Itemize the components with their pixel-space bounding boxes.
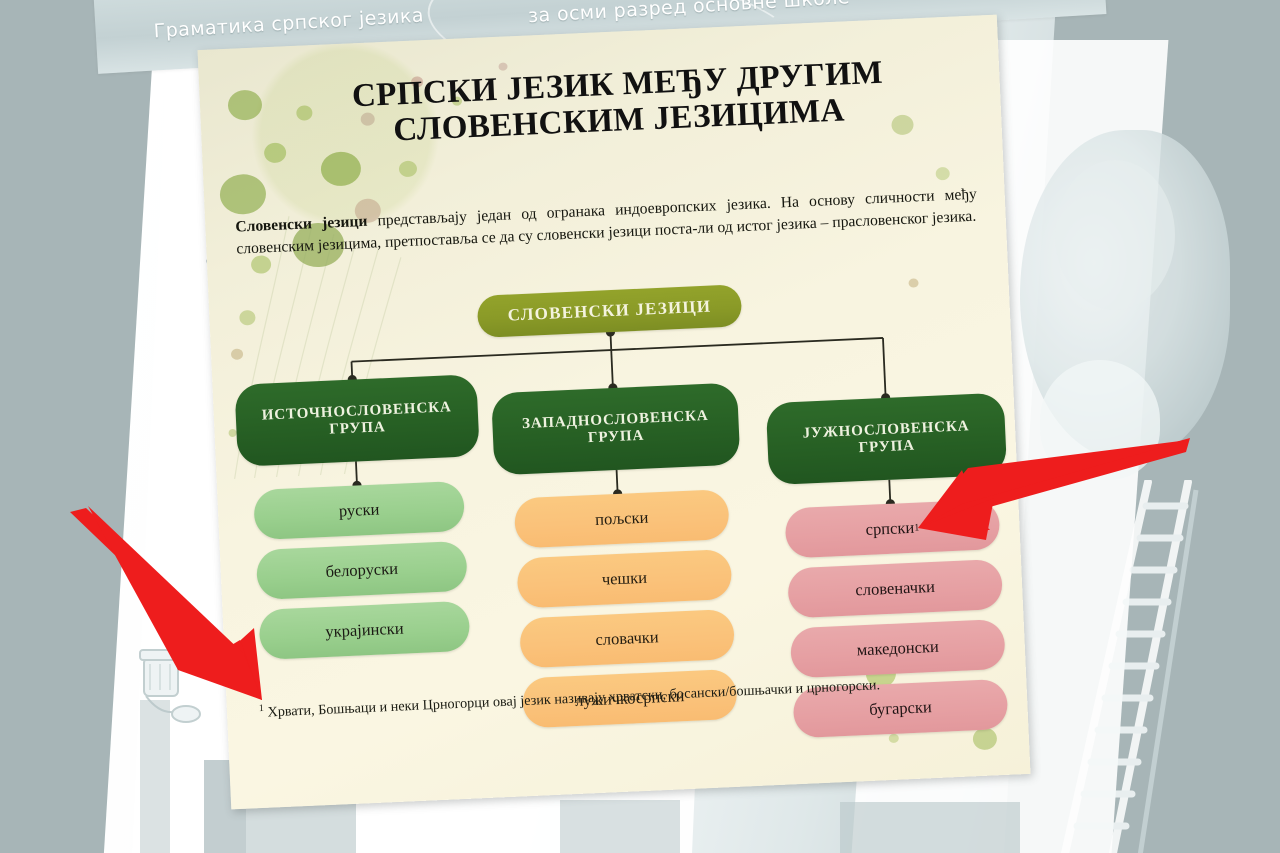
tree-leaf-belarusian-label: белоруски bbox=[325, 559, 398, 582]
tree-leaf-serbian-label: српски bbox=[865, 518, 914, 540]
tree-group-east-slavic[interactable]: ИСТОЧНОСЛОВЕНСКА ГРУПА bbox=[234, 374, 479, 467]
tree-leaf-ukrainian-label: украјински bbox=[325, 619, 404, 642]
tree-node-root-label: СЛОВЕНСКИ ЈЕЗИЦИ bbox=[507, 297, 711, 326]
tree-group-south-slavic-label-line-2: ГРУПА bbox=[858, 438, 915, 458]
tree-leaf-slovenian-label: словеначки bbox=[855, 577, 935, 601]
tree-leaf-ukrainian[interactable]: украјински bbox=[258, 601, 470, 660]
book-title-text: Граматика српског језика bbox=[153, 4, 424, 42]
tree-group-west-slavic[interactable]: ЗАПАДНОСЛОВЕНСКА ГРУПА bbox=[491, 383, 740, 476]
background-round-object-highlight bbox=[1055, 160, 1175, 310]
background-strip-5 bbox=[140, 700, 170, 853]
tree-group-east-slavic-label-line-2: ГРУПА bbox=[329, 419, 386, 439]
tree-leaf-czech-label: чешки bbox=[601, 568, 647, 590]
tree-leaf-czech[interactable]: чешки bbox=[516, 549, 732, 608]
tree-leaf-serbian-footnote-marker: 1 bbox=[914, 522, 920, 533]
tree-leaf-polish-label: пољски bbox=[595, 508, 649, 530]
tree-leaf-bulgarian-label: бугарски bbox=[869, 697, 932, 720]
tree-leaf-polish[interactable]: пољски bbox=[514, 489, 730, 548]
ladder-illustration bbox=[1020, 480, 1250, 853]
screenshot-stage: Граматика српског језика за осми разред … bbox=[0, 0, 1280, 853]
textbook-page: СРПСКИ ЈЕЗИК МЕЂУ ДРУГИМ СЛОВЕНСКИМ ЈЕЗИ… bbox=[197, 15, 1030, 810]
tree-group-west-slavic-label-line-2: ГРУПА bbox=[588, 428, 645, 448]
tree-leaf-russian[interactable]: руски bbox=[253, 481, 465, 540]
tree-leaf-belarusian[interactable]: белоруски bbox=[256, 541, 468, 600]
tree-leaf-russian-label: руски bbox=[338, 500, 379, 522]
tree-leaf-serbian[interactable]: српски1 bbox=[784, 499, 1000, 558]
tree-leaf-slovenian[interactable]: словеначки bbox=[787, 559, 1003, 618]
grade-number-badge: 8 bbox=[1005, 0, 1042, 2]
tree-leaf-slovak[interactable]: словачки bbox=[519, 609, 735, 668]
tree-leaf-slovak-label: словачки bbox=[595, 627, 659, 650]
background-strip-4 bbox=[840, 802, 1020, 853]
tree-group-south-slavic[interactable]: ЈУЖНОСЛОВЕНСКА ГРУПА bbox=[766, 393, 1007, 486]
background-bell-shape bbox=[1040, 360, 1160, 480]
tree-leaf-macedonian-label: македонски bbox=[856, 637, 939, 661]
background-strip-3 bbox=[560, 800, 680, 853]
